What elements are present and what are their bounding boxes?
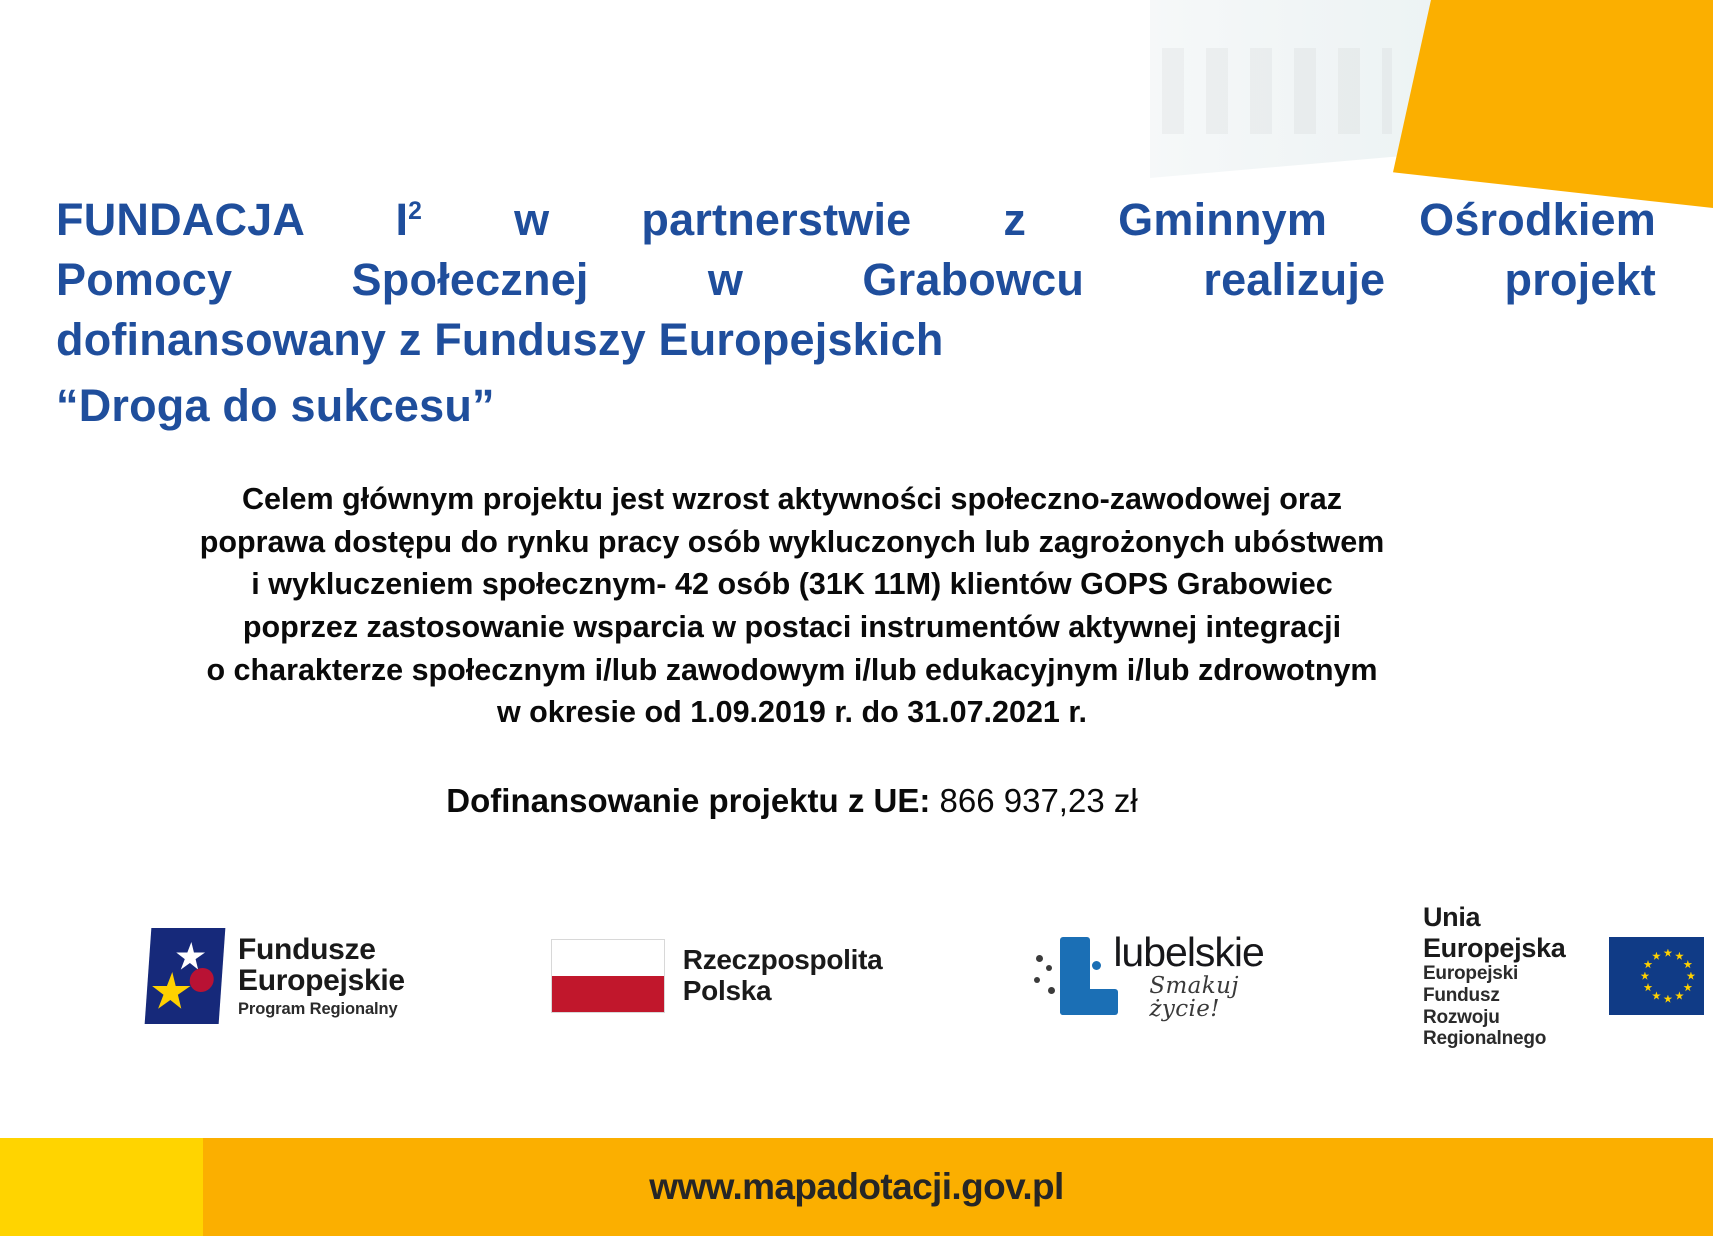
fundusze-europejskie-star-icon — [145, 928, 226, 1024]
rp-line-1: Rzeczpospolita — [683, 945, 883, 976]
logo-unia-europejska: Unia Europejska Europejski Fundusz Rozwo… — [1423, 902, 1704, 1050]
fe-line-3: Program Regionalny — [238, 1001, 405, 1018]
headline-line-1: FUNDACJA I2 w partnerstwie z Gminnym Ośr… — [56, 190, 1656, 250]
eu-star-icon — [1663, 949, 1672, 958]
description-line: Celem głównym projektu jest wzrost aktyw… — [42, 478, 1542, 521]
logo-strip: Fundusze Europejskie Program Regionalny … — [120, 916, 1600, 1036]
decorative-grey-stripes — [1162, 48, 1392, 134]
eu-star-icon — [1686, 972, 1695, 981]
logo-rzeczpospolita-polska: Rzeczpospolita Polska — [551, 939, 883, 1013]
eu-star-icon — [1644, 960, 1653, 969]
description-line: w okresie od 1.09.2019 r. do 31.07.2021 … — [42, 691, 1542, 734]
fe-line-2: Europejskie — [238, 965, 405, 996]
eu-flag-icon — [1609, 937, 1704, 1015]
eu-star-icon — [1652, 991, 1661, 1000]
funding-amount-row: Dofinansowanie projektu z UE: 866 937,23… — [42, 782, 1542, 820]
eu-star-icon — [1683, 960, 1692, 969]
rzeczpospolita-polska-text: Rzeczpospolita Polska — [683, 945, 883, 1007]
rp-line-2: Polska — [683, 976, 883, 1007]
description-line: i wykluczeniem społecznym- 42 osób (31K … — [42, 563, 1542, 606]
unia-europejska-text: Unia Europejska Europejski Fundusz Rozwo… — [1423, 902, 1589, 1050]
eu-star-icon — [1652, 952, 1661, 961]
description-line: poprzez zastosowanie wsparcia w postaci … — [42, 606, 1542, 649]
eu-star-icon — [1675, 991, 1684, 1000]
page-title: FUNDACJA I2 w partnerstwie z Gminnym Ośr… — [56, 190, 1656, 435]
eu-star-icon — [1640, 972, 1649, 981]
ue-line-3: Rozwoju Regionalnego — [1423, 1007, 1589, 1050]
decorative-orange-corner — [1393, 0, 1713, 208]
fundusze-europejskie-text: Fundusze Europejskie Program Regionalny — [238, 934, 405, 1019]
description-line: poprawa dostępu do rynku pracy osób wykl… — [42, 521, 1542, 564]
funding-label: Dofinansowanie projektu z UE: — [446, 782, 930, 819]
poster-root: FUNDACJA I2 w partnerstwie z Gminnym Ośr… — [0, 0, 1713, 1236]
footer-url-text: www.mapadotacji.gov.pl — [649, 1166, 1063, 1208]
lubelskie-name: lubelskie — [1113, 932, 1281, 973]
eu-star-icon — [1663, 995, 1672, 1004]
lubelskie-slogan: Smakuj życie! — [1149, 975, 1281, 1021]
headline-fundacja-text: FUNDACJA I — [56, 194, 408, 245]
footer-url: www.mapadotacji.gov.pl — [0, 1138, 1713, 1236]
ue-line-1: Unia Europejska — [1423, 902, 1589, 964]
ue-line-2: Europejski Fundusz — [1423, 963, 1589, 1006]
logo-fundusze-europejskie: Fundusze Europejskie Program Regionalny — [148, 928, 405, 1024]
polish-flag-icon — [551, 939, 665, 1013]
funding-value: 866 937,23 zł — [940, 782, 1138, 819]
project-name: “Droga do sukcesu” — [56, 376, 1656, 436]
headline-superscript: 2 — [408, 198, 422, 225]
headline-line-2: Pomocy Społecznej w Grabowcu realizuje p… — [56, 250, 1656, 310]
headline-line-3: dofinansowany z Funduszy Europejskich — [56, 310, 1656, 370]
eu-star-icon — [1683, 983, 1692, 992]
lubelskie-l-icon — [1030, 935, 1109, 1017]
fe-line-1: Fundusze — [238, 934, 405, 965]
eu-star-icon — [1675, 952, 1684, 961]
logo-lubelskie: lubelskie Smakuj życie! — [1030, 932, 1281, 1021]
eu-star-icon — [1644, 983, 1653, 992]
description-line: o charakterze społecznym i/lub zawodowym… — [42, 649, 1542, 692]
lubelskie-text: lubelskie Smakuj życie! — [1113, 932, 1281, 1021]
headline-line-1-rest: w partnerstwie z Gminnym Ośrodkiem — [422, 194, 1656, 245]
project-description: Celem głównym projektu jest wzrost aktyw… — [42, 478, 1542, 734]
